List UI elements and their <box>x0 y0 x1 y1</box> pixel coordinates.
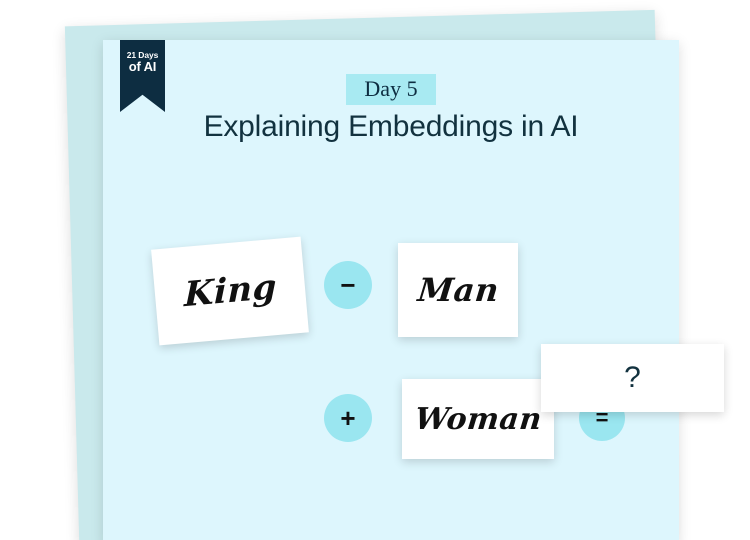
word-card-label: Woman <box>413 402 543 437</box>
word-card-king: King <box>151 237 309 346</box>
word-card-label: Man <box>416 271 501 309</box>
word-card-label: King <box>183 267 276 315</box>
plus-operator-icon: + <box>324 394 372 442</box>
page-title: Explaining Embeddings in AI <box>103 110 679 144</box>
minus-symbol: − <box>340 272 355 298</box>
slide-card: 21 Days of AI Day 5 Explaining Embedding… <box>103 40 679 540</box>
day-label: Day 5 <box>346 74 435 105</box>
word-card-man: Man <box>398 243 518 337</box>
word-card-woman: Woman <box>402 379 554 459</box>
slide-canvas: 21 Days of AI Day 5 Explaining Embedding… <box>0 0 750 540</box>
question-mark-icon: ? <box>624 361 641 395</box>
ribbon-line-2: of AI <box>129 60 156 74</box>
minus-operator-icon: − <box>324 261 372 309</box>
day-label-wrapper: Day 5 <box>103 74 679 105</box>
plus-symbol: + <box>340 405 355 431</box>
word-card-answer: ? <box>541 344 724 412</box>
